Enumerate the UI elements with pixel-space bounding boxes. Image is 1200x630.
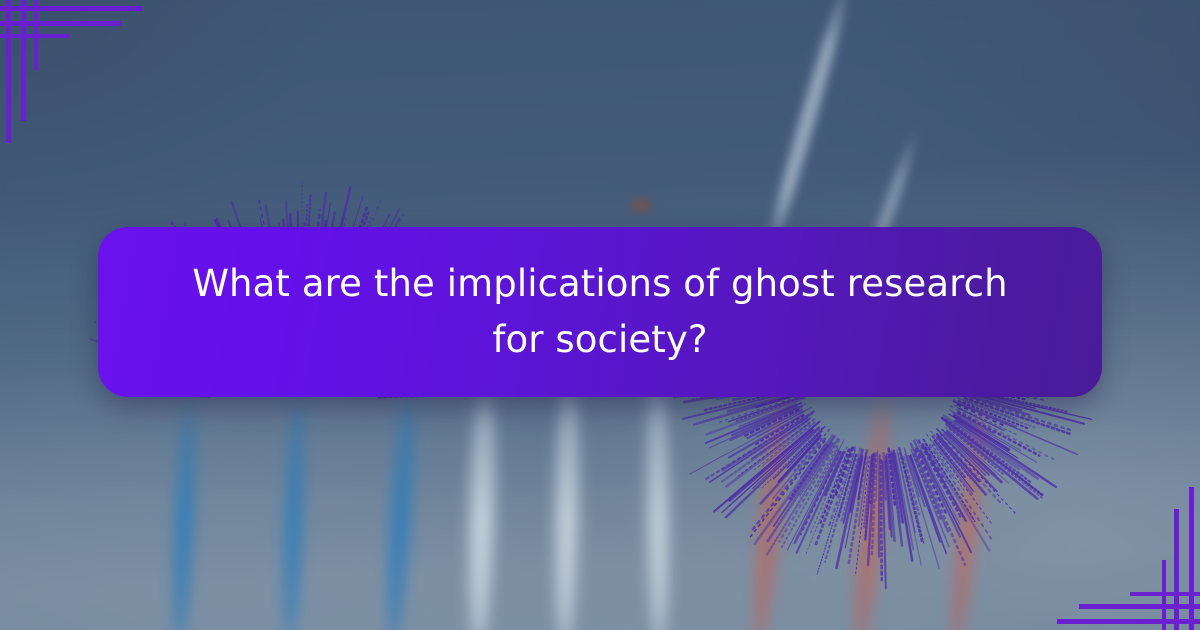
- question-card: What are the implications of ghost resea…: [98, 227, 1102, 397]
- question-text: What are the implications of ghost resea…: [160, 256, 1039, 368]
- og-image-canvas: What are the implications of ghost resea…: [0, 0, 1200, 630]
